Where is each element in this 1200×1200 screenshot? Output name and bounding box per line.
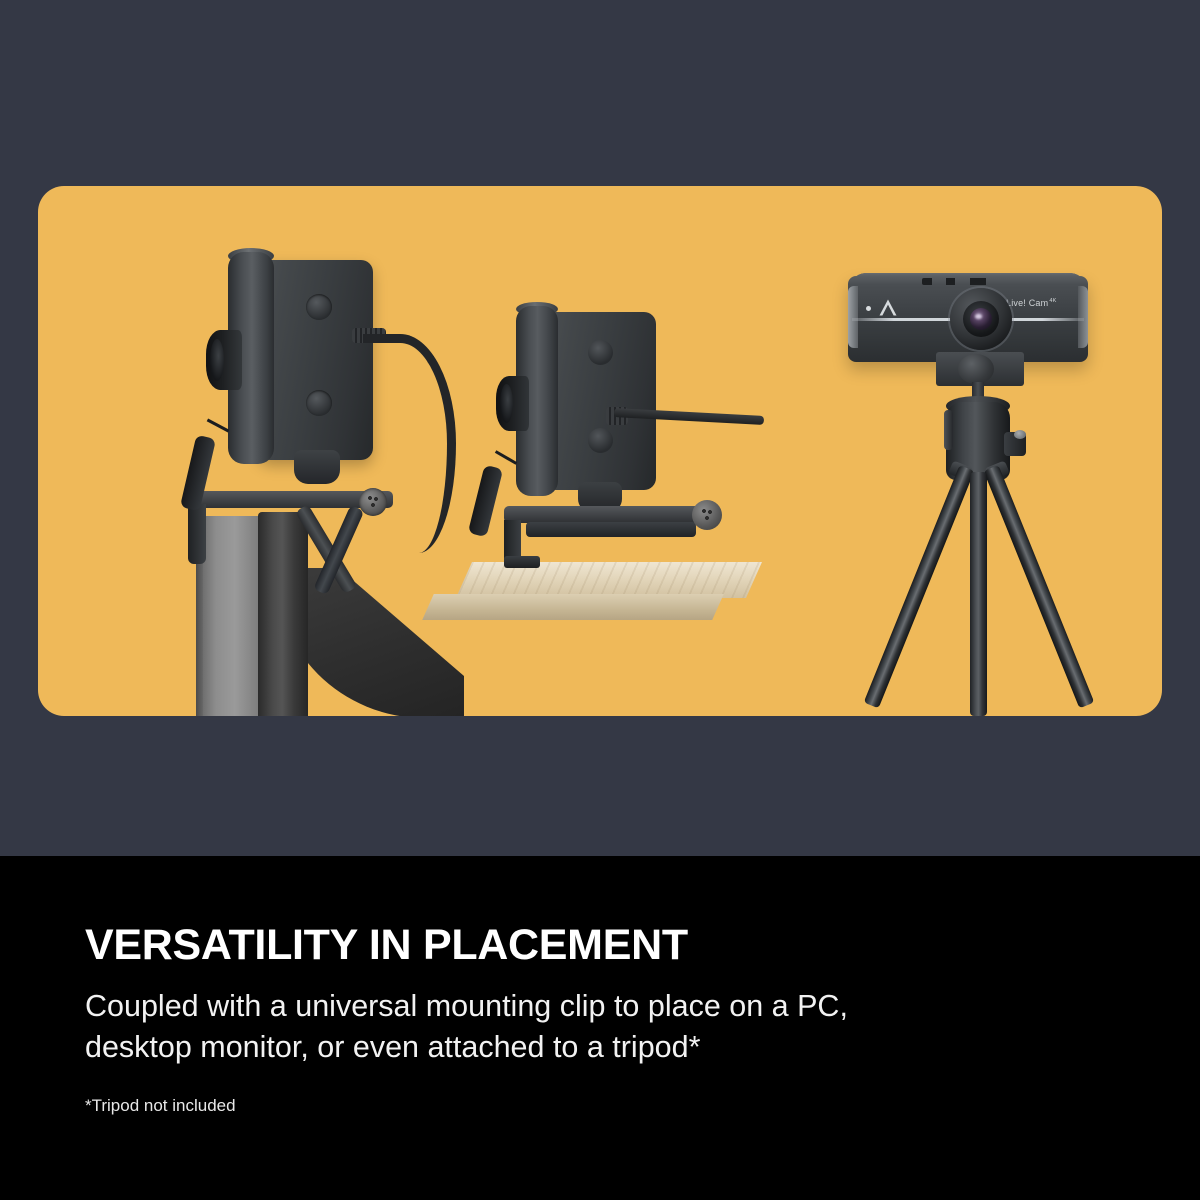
- tripod-mount-knob: [958, 354, 994, 384]
- headline: VERSATILITY IN PLACEMENT: [85, 921, 688, 970]
- tripod-leg-right: [984, 465, 1095, 708]
- mounting-clip-hook: [188, 504, 206, 564]
- marketing-slide: Live! Cam4K: [0, 0, 1200, 1200]
- webcam-lens-glass: [970, 308, 992, 330]
- privacy-shutter-arm: [495, 450, 517, 465]
- footnote: *Tripod not included: [85, 1096, 236, 1116]
- monitor-stand-column: [258, 512, 308, 716]
- brand-superscript: 4K: [1049, 298, 1056, 304]
- hero-section: Live! Cam4K: [0, 0, 1200, 856]
- subcopy: Coupled with a universal mounting clip t…: [85, 986, 945, 1069]
- webcam-lens: [496, 376, 529, 431]
- desk-front-edge: [422, 594, 724, 620]
- mounting-clip-foot: [504, 556, 540, 568]
- product-photo-panel: Live! Cam4K: [38, 186, 1162, 716]
- webcam-right-side-trim: [1078, 286, 1088, 348]
- webcam-body: [258, 260, 373, 460]
- privacy-shutter-flap: [468, 465, 503, 538]
- mounting-clip-lower-arm: [526, 522, 696, 537]
- brand-text: Live! Cam: [1006, 298, 1048, 308]
- creative-triangle-logo-icon: [878, 298, 898, 317]
- monitor-back-panel: [203, 516, 261, 716]
- webcam-top-buttons: [922, 278, 994, 285]
- privacy-shutter-arm: [207, 419, 230, 433]
- tripod-leg-left: [864, 465, 975, 708]
- scene-webcam-on-monitor: [78, 216, 438, 716]
- webcam-body: [544, 312, 656, 490]
- webcam-side-port-upper: [588, 340, 613, 365]
- scene-webcam-on-desk: [456, 294, 796, 694]
- led-indicator-icon: [866, 306, 871, 311]
- webcam-unit: [496, 294, 706, 584]
- webcam-lens-glint: [975, 314, 982, 319]
- webcam-swivel-neck: [294, 450, 340, 484]
- tripod-head-clamp: [944, 410, 953, 450]
- tripod-locking-pin: [1014, 430, 1026, 439]
- copy-section: VERSATILITY IN PLACEMENT Coupled with a …: [0, 856, 1200, 1200]
- webcam-lens: [206, 330, 242, 390]
- usb-cable: [363, 334, 456, 553]
- tripod-leg-center: [970, 472, 987, 716]
- webcam-left-side-trim: [848, 286, 858, 348]
- webcam-side-port-lower: [588, 428, 613, 453]
- mounting-clip-top-arm: [504, 506, 714, 523]
- webcam-side-port-upper: [306, 294, 332, 320]
- webcam-side-port-lower: [306, 390, 332, 416]
- tripod-thread-socket-icon: [692, 500, 722, 530]
- product-brand-label: Live! Cam4K: [1006, 298, 1056, 308]
- scene-webcam-on-tripod: Live! Cam4K: [818, 264, 1148, 716]
